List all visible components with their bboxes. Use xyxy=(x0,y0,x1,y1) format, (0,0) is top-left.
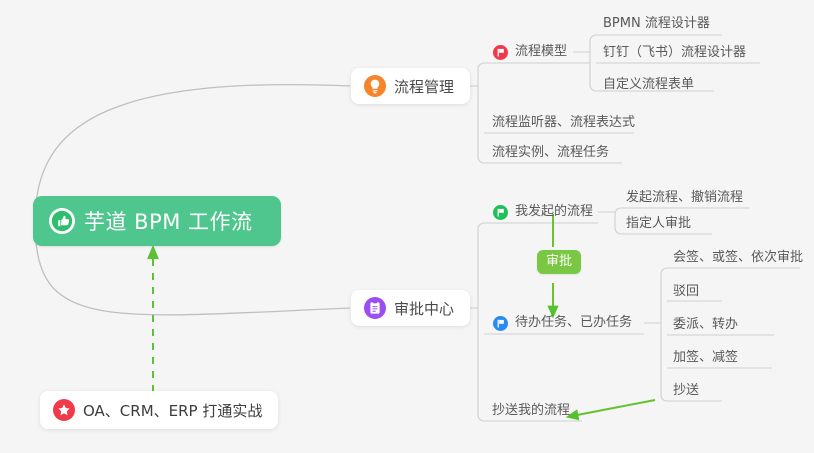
node-start-cancel[interactable]: 发起流程、撤销流程 xyxy=(626,190,743,206)
node-dingtalk-designer[interactable]: 钉钉（飞书）流程设计器 xyxy=(603,45,746,61)
node-process-model[interactable]: 流程模型 xyxy=(493,44,567,60)
spine-approval-center xyxy=(478,223,484,421)
branch-approval-center[interactable]: 审批中心 xyxy=(351,290,470,326)
arrow-cc-to-ccme xyxy=(572,400,655,416)
node-instance-task[interactable]: 流程实例、流程任务 xyxy=(492,145,609,161)
branch-process-management-label: 流程管理 xyxy=(394,76,454,97)
flag-red-icon xyxy=(493,45,508,60)
flag-green-icon xyxy=(493,205,508,220)
mindmap-canvas: 芋道 BPM 工作流 OA、CRM、ERP 打通实战 流程管理 xyxy=(0,0,814,453)
node-cc[interactable]: 抄送 xyxy=(673,383,699,399)
flag-blue-icon xyxy=(493,316,508,331)
node-todo-done[interactable]: 待办任务、已办任务 xyxy=(493,315,632,331)
spine-process-management xyxy=(478,63,484,163)
bottom-node-oa-crm-erp[interactable]: OA、CRM、ERP 打通实战 xyxy=(40,391,278,429)
edge-root-to-approval-center xyxy=(36,242,350,315)
bottom-node-label: OA、CRM、ERP 打通实战 xyxy=(83,400,262,421)
clipboard-icon xyxy=(364,297,386,319)
node-custom-form[interactable]: 自定义流程表单 xyxy=(603,77,694,93)
edge-root-to-process-management xyxy=(36,85,350,204)
node-delegate-transfer[interactable]: 委派、转办 xyxy=(673,317,738,333)
branch-approval-center-label: 审批中心 xyxy=(394,298,454,319)
node-my-started[interactable]: 我发起的流程 xyxy=(493,204,593,220)
node-todo-done-label: 待办任务、已办任务 xyxy=(515,315,632,331)
approval-pill[interactable]: 审批 xyxy=(537,250,581,274)
branch-process-management[interactable]: 流程管理 xyxy=(351,68,470,104)
node-bpmn-designer[interactable]: BPMN 流程设计器 xyxy=(603,16,710,32)
node-my-started-label: 我发起的流程 xyxy=(515,204,593,220)
lightbulb-icon xyxy=(364,75,386,97)
node-cc-to-me[interactable]: 抄送我的流程 xyxy=(492,403,570,419)
node-add-remove-sign[interactable]: 加签、减签 xyxy=(673,350,738,366)
node-listener-expression[interactable]: 流程监听器、流程表达式 xyxy=(492,115,635,131)
star-icon xyxy=(53,399,75,421)
spine-my-started xyxy=(615,208,621,234)
root-label: 芋道 BPM 工作流 xyxy=(84,206,253,236)
spine-process-model xyxy=(590,35,596,91)
node-assignee-approve[interactable]: 指定人审批 xyxy=(626,216,691,232)
node-multi-sign[interactable]: 会签、或签、依次审批 xyxy=(673,250,803,266)
root-node[interactable]: 芋道 BPM 工作流 xyxy=(33,196,281,246)
node-process-model-label: 流程模型 xyxy=(515,44,567,60)
node-reject[interactable]: 驳回 xyxy=(673,284,699,300)
spine-todo-done xyxy=(661,268,667,401)
thumbs-up-icon xyxy=(49,208,75,234)
